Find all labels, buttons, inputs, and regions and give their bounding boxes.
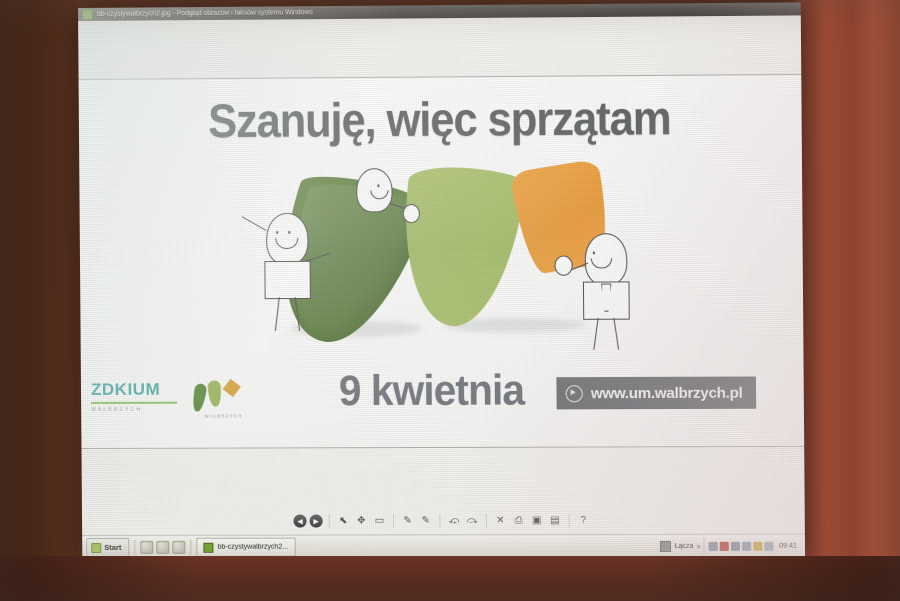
toolbar-separator-3 — [439, 514, 440, 527]
links-toolbar[interactable]: Łącza » — [660, 541, 701, 552]
zoom-in-button[interactable]: ✎ — [400, 513, 415, 528]
poster-illustration — [229, 158, 664, 351]
battery-icon[interactable] — [765, 542, 774, 551]
city-logo-leaf-dark — [191, 383, 208, 413]
wall-left — [0, 0, 78, 601]
system-tray: 09:41 — [704, 538, 801, 555]
next-image-button[interactable]: ▶ — [310, 514, 323, 527]
city-logo-leaf-light — [207, 380, 222, 407]
zdkium-logo: ZDKIUM WAŁBRZYCH — [91, 380, 177, 413]
help-button[interactable]: ? — [576, 513, 591, 528]
poster-headline: Szanuję, więc sprzątam — [107, 89, 772, 149]
figure-left-arm-up — [242, 216, 267, 231]
quicklaunch-icon-3[interactable] — [172, 541, 185, 554]
poster-date: 9 kwietnia — [303, 366, 559, 416]
figure-left-body — [264, 261, 311, 299]
clock-sync-icon[interactable] — [731, 542, 740, 551]
start-button[interactable]: Start — [86, 538, 129, 557]
poster-logos: ZDKIUM WAŁBRZYCH WAŁBRZYCH — [91, 375, 262, 432]
quicklaunch-icon-2[interactable] — [156, 541, 169, 554]
play-circle-icon — [566, 385, 583, 402]
edit-button[interactable]: ▤ — [547, 513, 562, 528]
delete-button[interactable]: ✕ — [493, 513, 508, 528]
city-logo-subtitle: WAŁBRZYCH — [189, 413, 257, 418]
figure-right-leg-1 — [593, 318, 598, 350]
image-file-icon — [203, 542, 213, 552]
poster-url-badge: www.um.walbrzych.pl — [556, 377, 755, 410]
volume-icon[interactable] — [720, 542, 729, 551]
taskbar-item-picture-viewer[interactable]: bb-czystywalbrzych2... — [196, 538, 295, 557]
taskband-separator — [190, 540, 191, 555]
links-label: Łącza — [674, 543, 693, 550]
save-as-button[interactable]: ▣ — [529, 513, 544, 528]
figure-left-leg-1 — [275, 297, 280, 331]
figure-right-leg-2 — [613, 318, 619, 350]
chevron-right-icon[interactable]: » — [696, 542, 701, 551]
walbrzych-city-logo: WAŁBRZYCH — [189, 375, 258, 421]
zdkium-wordmark: ZDKIUM — [91, 380, 177, 400]
slideshow-button[interactable]: ▭ — [372, 513, 387, 528]
rotate-counterclockwise-button[interactable]: ⤼ — [465, 513, 480, 528]
windows-flag-icon — [91, 542, 101, 552]
viewer-client-area: Szanuję, więc sprzątam — [78, 15, 805, 535]
window-title: bb-czystywalbrzych2.jpg - Podgląd obrazó… — [97, 9, 313, 18]
poster-url-text: www.um.walbrzych.pl — [591, 384, 743, 402]
figure-left-eye-1 — [276, 231, 278, 234]
zoom-out-button[interactable]: ✎ — [418, 513, 433, 528]
figure-back-eye — [377, 184, 379, 187]
quicklaunch-icon-1[interactable] — [140, 541, 153, 554]
figure-back-hand — [403, 204, 420, 223]
figure-right-eye — [593, 251, 595, 254]
city-logo-square — [223, 379, 241, 397]
wall-right — [795, 0, 900, 601]
toolbar-separator-1 — [329, 514, 330, 527]
taskbar-spacer — [298, 546, 657, 547]
previous-image-button[interactable]: ◀ — [293, 515, 306, 528]
start-label: Start — [104, 543, 121, 552]
taskbar-item-label: bb-czystywalbrzych2... — [218, 544, 289, 551]
quicklaunch-separator — [134, 540, 135, 555]
taskbar-clock[interactable]: 09:41 — [779, 543, 797, 550]
zdkium-underline — [91, 402, 177, 404]
zdkium-subtitle: WAŁBRZYCH — [91, 407, 177, 413]
toolbar-separator-2 — [393, 514, 394, 527]
rotate-clockwise-button[interactable]: ⤽ — [446, 513, 461, 528]
figure-right-hand — [554, 256, 572, 276]
actual-size-button[interactable]: ✥ — [354, 513, 369, 528]
mattress-light-green — [392, 164, 527, 329]
toolbar-separator-4 — [486, 514, 487, 527]
display-icon[interactable] — [709, 542, 718, 551]
best-fit-button[interactable]: ⬉ — [336, 513, 351, 528]
figure-left-eye-2 — [288, 231, 290, 234]
poster-image: Szanuję, więc sprzątam — [79, 75, 805, 448]
network-icon[interactable] — [742, 542, 751, 551]
toolbar-separator-5 — [569, 514, 570, 527]
shield-icon[interactable] — [754, 542, 763, 551]
room-photo: bb-czystywalbrzych2.jpg - Podgląd obrazó… — [0, 0, 900, 601]
projection-screen: bb-czystywalbrzych2.jpg - Podgląd obrazó… — [78, 2, 805, 559]
viewer-toolbar: ◀ ▶ ⬉ ✥ ▭ ✎ ✎ ⤽ ⤼ ✕ ⎙ ▣ ▤ ? — [82, 506, 805, 535]
wall-bottom — [0, 556, 900, 601]
links-folder-icon — [660, 541, 671, 552]
image-file-icon — [82, 9, 93, 20]
print-button[interactable]: ⎙ — [511, 513, 526, 528]
